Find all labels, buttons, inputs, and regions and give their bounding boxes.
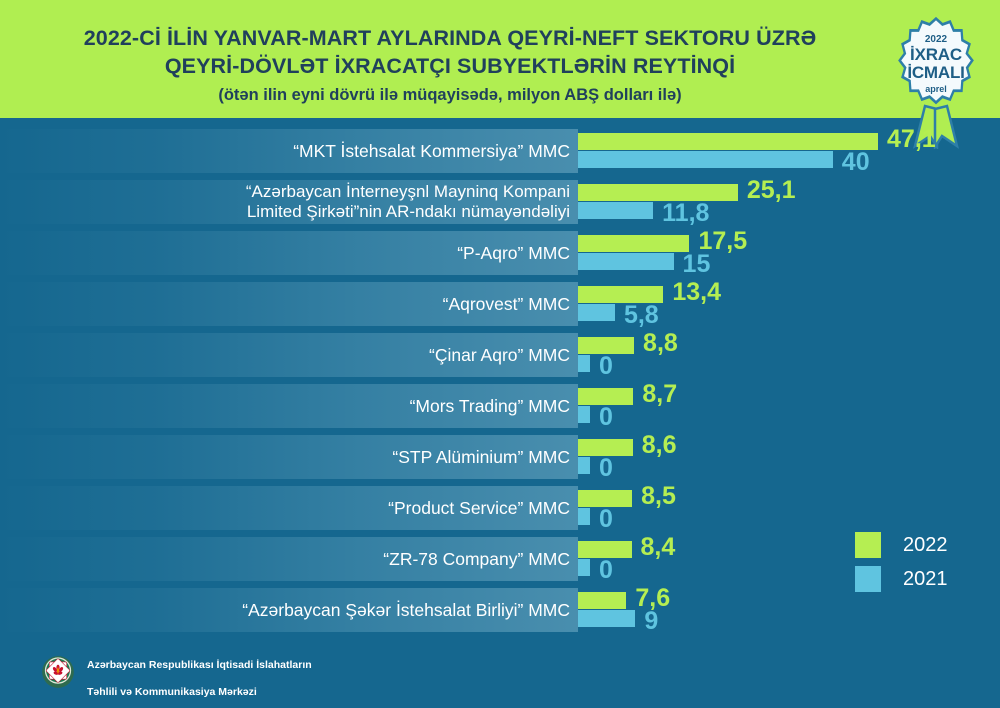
category-label: “P-Aqro” MMC: [457, 243, 570, 264]
category-label-band: “Aqrovest” MMC: [0, 282, 578, 326]
bar-2022: [578, 184, 738, 201]
page-subtitle: (ötən ilin eyni dövrü ilə müqayisədə, mi…: [40, 86, 860, 105]
bar-2021: [578, 559, 590, 576]
bar-value-2021: 15: [683, 250, 711, 279]
bar-value-2022: 47,1: [887, 125, 936, 154]
legend-item-2022: 2022: [855, 528, 985, 562]
bar-2021: [578, 151, 833, 168]
legend-label-2021: 2021: [903, 568, 948, 591]
bar-2021: [578, 406, 590, 423]
chart-row: “STP Alüminium” MMC8,60: [0, 435, 1000, 479]
category-label: “ZR-78 Company” MMC: [383, 549, 570, 570]
category-label: “STP Alüminium” MMC: [392, 447, 570, 468]
bar-2021: [578, 304, 615, 321]
azerbaijan-state-emblem-icon: [40, 654, 76, 690]
ixrac-icmali-seal-badge: 2022 İXRAC İCMALI aprel: [885, 14, 987, 116]
bar-value-2022: 8,5: [641, 482, 676, 511]
chart-row: “Mors Trading” MMC8,70: [0, 384, 1000, 428]
bar-2021: [578, 202, 653, 219]
chart-row: “Aqrovest” MMC13,45,8: [0, 282, 1000, 326]
category-label-band: “P-Aqro” MMC: [0, 231, 578, 275]
bar-2021: [578, 355, 590, 372]
bar-value-2022: 8,4: [641, 533, 676, 562]
bar-value-2021: 0: [599, 403, 613, 432]
footer-org-line-2: Təhlili və Kommunikasiya Mərkəzi: [87, 686, 257, 698]
bar-group: 25,111,8: [578, 180, 828, 224]
bar-value-2021: 0: [599, 454, 613, 483]
bar-value-2022: 13,4: [672, 278, 721, 307]
bar-value-2021: 0: [599, 352, 613, 381]
header-title-block: 2022-Cİ İLİN YANVAR-MART AYLARINDA QEYRİ…: [40, 24, 860, 105]
bar-2021: [578, 508, 590, 525]
category-label-band: “Product Service” MMC: [0, 486, 578, 530]
category-label-band: “STP Alüminium” MMC: [0, 435, 578, 479]
legend-swatch-2022: [855, 532, 881, 558]
page-title-line-1: 2022-Cİ İLİN YANVAR-MART AYLARINDA QEYRİ…: [40, 24, 860, 52]
bar-value-2022: 8,8: [643, 329, 678, 358]
category-label: “Aqrovest” MMC: [443, 294, 570, 315]
chart-row: “ZR-78 Company” MMC8,40: [0, 537, 1000, 581]
bar-2021: [578, 457, 590, 474]
bar-value-2021: 0: [599, 556, 613, 585]
bar-group: 8,70: [578, 384, 723, 428]
bar-2021: [578, 253, 674, 270]
category-label-band: “Çinar Aqro” MMC: [0, 333, 578, 377]
bar-2022: [578, 133, 878, 150]
bar-group: 47,140: [578, 129, 968, 173]
chart-legend: 2022 2021: [855, 528, 985, 596]
bar-2022: [578, 235, 689, 252]
category-label: “MKT İstehsalat Kommersiya” MMC: [293, 141, 570, 162]
bar-group: 8,60: [578, 435, 723, 479]
bar-group: 8,80: [578, 333, 724, 377]
category-label: “Mors Trading” MMC: [410, 396, 570, 417]
bar-value-2022: 25,1: [747, 176, 796, 205]
bar-group: 13,45,8: [578, 282, 753, 326]
bar-group: 17,515: [578, 231, 779, 275]
category-label-band: “Azərbaycan Şəkər İstehsalat Birliyi” MM…: [0, 588, 578, 632]
bar-group: 8,50: [578, 486, 722, 530]
bar-group: 8,40: [578, 537, 722, 581]
legend-swatch-2021: [855, 566, 881, 592]
category-label-band: “MKT İstehsalat Kommersiya” MMC: [0, 129, 578, 173]
legend-item-2021: 2021: [855, 562, 985, 596]
legend-label-2022: 2022: [903, 534, 948, 557]
chart-row: “Çinar Aqro” MMC8,80: [0, 333, 1000, 377]
bar-value-2021: 5,8: [624, 301, 659, 330]
bar-value-2021: 11,8: [662, 199, 709, 228]
category-label-band: “ZR-78 Company” MMC: [0, 537, 578, 581]
bar-value-2021: 0: [599, 505, 613, 534]
chart-row: “Azərbaycan İnterneyşnl Mayninq Kompani …: [0, 180, 1000, 224]
chart-row: “P-Aqro” MMC17,515: [0, 231, 1000, 275]
chart-row: “Azərbaycan Şəkər İstehsalat Birliyi” MM…: [0, 588, 1000, 632]
bar-value-2022: 8,6: [642, 431, 677, 460]
chart-row: “Product Service” MMC8,50: [0, 486, 1000, 530]
category-label: “Product Service” MMC: [388, 498, 570, 519]
footer-branding: Azərbaycan Respublikası İqtisadi İslahat…: [40, 645, 312, 699]
footer-org-name: Azərbaycan Respublikası İqtisadi İslahat…: [87, 645, 312, 699]
bar-value-2022: 8,7: [642, 380, 677, 409]
bar-2022: [578, 592, 626, 609]
bar-chart: “MKT İstehsalat Kommersiya” MMC47,140“Az…: [0, 118, 1000, 638]
page-title-line-2: QEYRİ-DÖVLƏT İXRACATÇI SUBYEKTLƏRİN REYT…: [40, 52, 860, 80]
chart-row: “MKT İstehsalat Kommersiya” MMC47,140: [0, 129, 1000, 173]
bar-2021: [578, 610, 635, 627]
category-label: “Azərbaycan İnterneyşnl Mayninq Kompani …: [246, 182, 570, 222]
category-label-band: “Azərbaycan İnterneyşnl Mayninq Kompani …: [0, 180, 578, 224]
category-label-band: “Mors Trading” MMC: [0, 384, 578, 428]
category-label: “Çinar Aqro” MMC: [429, 345, 570, 366]
bar-group: 7,69: [578, 588, 725, 632]
header-banner: 2022-Cİ İLİN YANVAR-MART AYLARINDA QEYRİ…: [0, 0, 1000, 118]
footer-org-line-1: Azərbaycan Respublikası İqtisadi İslahat…: [87, 659, 312, 671]
bar-value-2021: 40: [842, 148, 870, 177]
category-label: “Azərbaycan Şəkər İstehsalat Birliyi” MM…: [242, 600, 570, 621]
bar-value-2021: 9: [644, 607, 658, 636]
